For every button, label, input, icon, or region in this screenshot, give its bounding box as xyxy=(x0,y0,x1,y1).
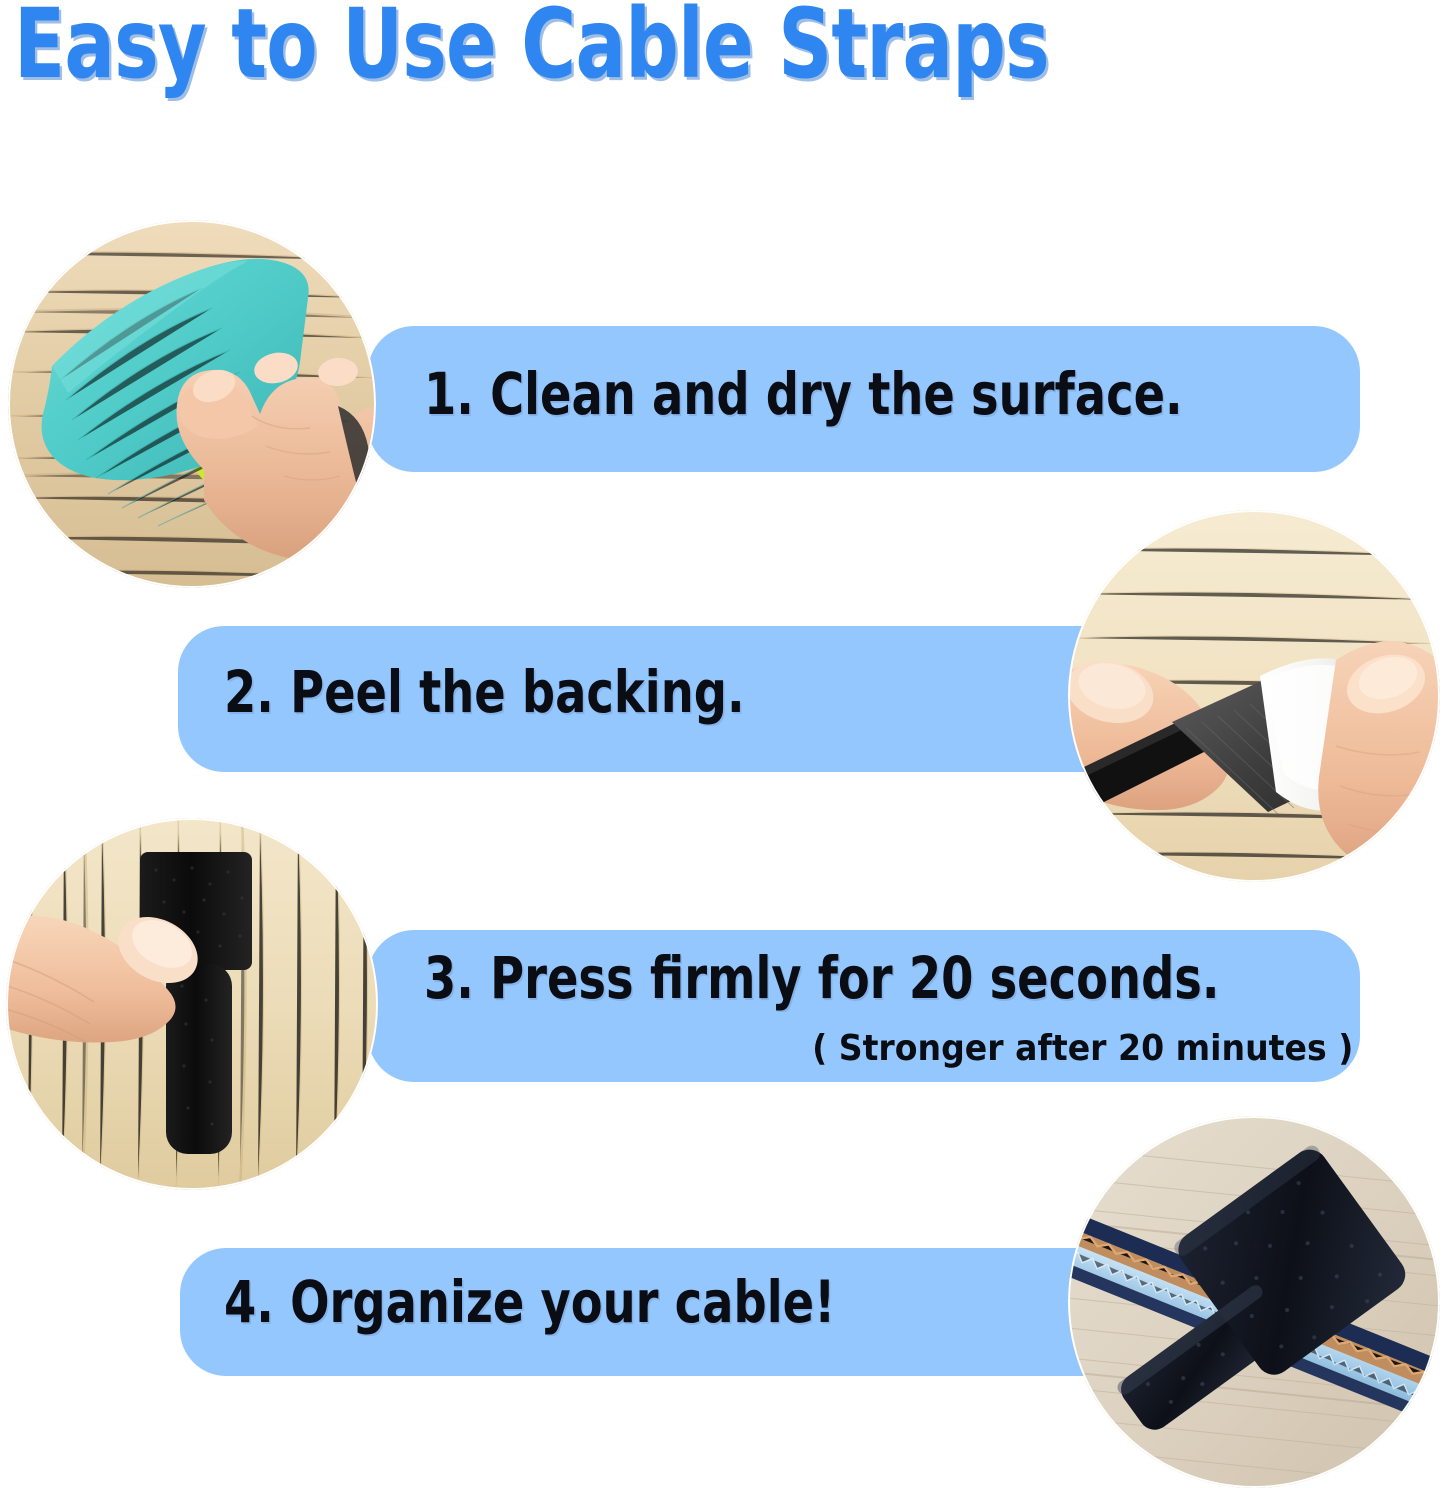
step-sublabel-3: ( Stronger after 20 minutes ) xyxy=(812,1028,1353,1069)
step-label-3: 3. Press firmly for 20 seconds. xyxy=(424,944,1220,1012)
page-title: Easy to Use Cable Straps xyxy=(14,0,1049,95)
photo-peel-backing xyxy=(1068,510,1440,882)
photo-press-firmly xyxy=(6,818,378,1190)
photo-clean-surface xyxy=(8,220,376,588)
step-label-1: 1. Clean and dry the surface. xyxy=(424,360,1183,428)
step-label-2: 2. Peel the backing. xyxy=(224,658,745,726)
photo-organize-cable xyxy=(1068,1116,1440,1488)
step-label-4: 4. Organize your cable! xyxy=(224,1268,835,1336)
